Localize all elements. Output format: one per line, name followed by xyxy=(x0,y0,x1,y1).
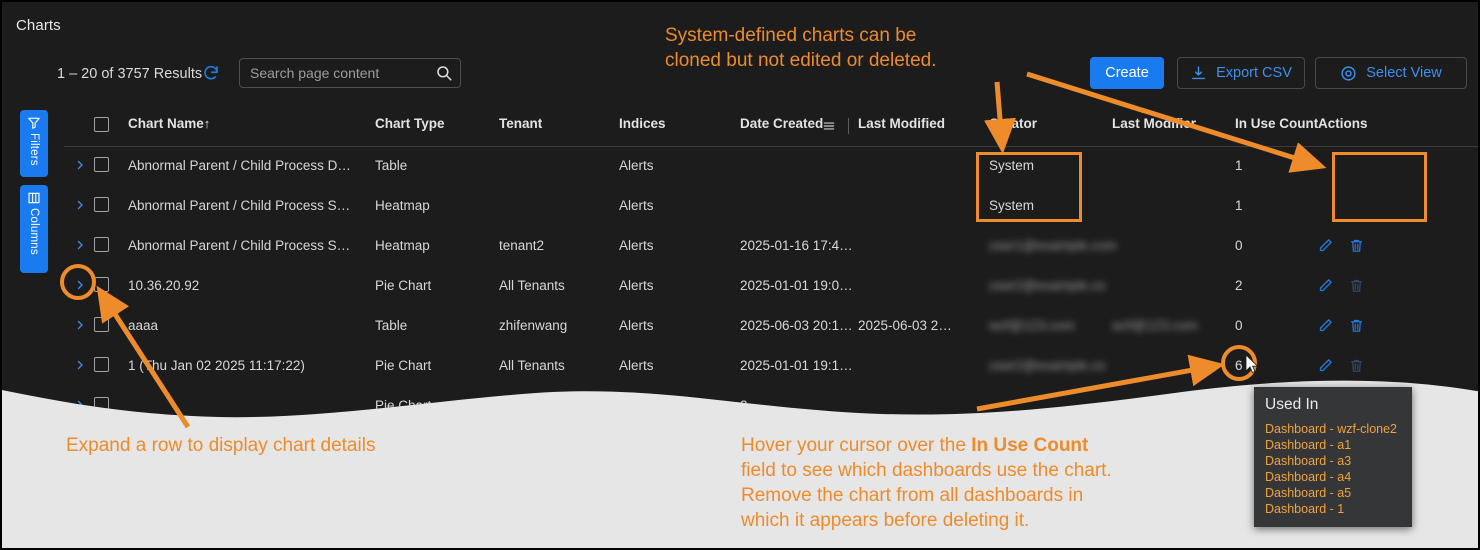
row-select-checkbox[interactable] xyxy=(94,317,109,332)
cell-in-use-count: 0 xyxy=(1235,398,1243,413)
cell-date-created: 2025-01-01 19:0… xyxy=(740,278,853,293)
cell-last-modifier: wzf@123.com xyxy=(1112,318,1198,333)
tooltip-item: Dashboard - a4 xyxy=(1265,469,1401,485)
header-divider xyxy=(848,118,849,134)
sidebar-tab-columns-label: Columns xyxy=(28,208,40,255)
cell-last-modified: 2025-06-03 2… xyxy=(858,318,952,333)
select-view-label: Select View xyxy=(1366,65,1442,81)
cell-indices: Alerts xyxy=(619,318,654,333)
cell-tenant: zhifenwang xyxy=(499,318,567,333)
cell-indices: Alerts xyxy=(619,198,654,213)
cell-chart-type: Pie Chart xyxy=(375,358,431,373)
annotation-hover-note-rest: field to see which dashboards use the ch… xyxy=(741,460,1112,531)
column-header-actions[interactable]: Actions xyxy=(1318,116,1368,131)
table-header-row: Chart Name↑ Chart Type Tenant Indices Da… xyxy=(64,107,1480,147)
table-row[interactable]: Abnormal Parent / Child Process S…Heatma… xyxy=(64,227,1480,267)
annotation-hover-note-bold: In Use Count xyxy=(971,435,1088,456)
row-actions[interactable] xyxy=(1318,238,1364,253)
row-expand-chevron[interactable] xyxy=(74,199,86,211)
tooltip-item: Dashboard - a1 xyxy=(1265,437,1401,453)
cell-tenant: tenant2 xyxy=(499,238,544,253)
cell-in-use-count: 1 xyxy=(1235,198,1243,213)
search-box[interactable] xyxy=(239,58,461,88)
cell-tenant: All Tenants xyxy=(499,398,565,413)
search-icon[interactable] xyxy=(435,64,453,82)
table-row[interactable]: 1 (Thu Jan 02 2025 11:17:22)Pie ChartAll… xyxy=(64,347,1480,387)
cell-in-use-count: 0 xyxy=(1235,238,1243,253)
row-select-checkbox[interactable] xyxy=(94,157,109,172)
row-select-checkbox[interactable] xyxy=(94,357,109,372)
cell-chart-type: Pie Chart xyxy=(375,278,431,293)
search-input[interactable] xyxy=(250,59,425,87)
cell-creator: System xyxy=(989,198,1034,213)
table-body: Abnormal Parent / Child Process D…TableA… xyxy=(64,147,1480,427)
row-expand-chevron[interactable] xyxy=(74,159,86,171)
funnel-icon xyxy=(27,116,41,130)
delete-icon[interactable] xyxy=(1349,238,1364,253)
screenshot-root: Charts 1 – 20 of 3757 Results Create Exp… xyxy=(0,0,1480,550)
tooltip-item: Dashboard - a3 xyxy=(1265,453,1401,469)
used-in-tooltip: Used In Dashboard - wzf-clone2Dashboard … xyxy=(1254,387,1412,527)
cell-date-created: 2025-06-03 20:1… xyxy=(740,318,853,333)
row-expand-chevron[interactable] xyxy=(74,239,86,251)
table-row[interactable]: Abnormal Parent / Child Process S…Heatma… xyxy=(64,187,1480,227)
cell-chart-type: Pie Chart xyxy=(375,398,431,413)
row-expand-chevron[interactable] xyxy=(74,279,86,291)
row-select-checkbox[interactable] xyxy=(94,397,109,412)
select-view-button[interactable]: Select View xyxy=(1315,57,1467,89)
annotation-expand-note: Expand a row to display chart details xyxy=(66,433,375,458)
cell-chart-type: Heatmap xyxy=(375,238,430,253)
export-csv-label: Export CSV xyxy=(1216,65,1292,81)
cell-indices: Alerts xyxy=(619,278,654,293)
row-select-checkbox[interactable] xyxy=(94,197,109,212)
annotation-hover-note-part1: Hover your cursor over the xyxy=(741,435,971,456)
page-title: Charts xyxy=(16,17,61,34)
edit-icon[interactable] xyxy=(1318,238,1333,253)
table-row[interactable]: 10.36.20.92Pie ChartAll TenantsAlerts202… xyxy=(64,267,1480,307)
cell-chart-name: Abnormal Parent / Child Process D… xyxy=(128,158,351,173)
row-actions[interactable] xyxy=(1318,318,1364,333)
row-select-checkbox[interactable] xyxy=(94,237,109,252)
columns-icon xyxy=(27,191,41,205)
row-expand-chevron[interactable] xyxy=(74,319,86,331)
cell-indices: Alerts xyxy=(619,398,654,413)
cell-date-created: 2025-01-16 17:4… xyxy=(740,238,853,253)
tooltip-item: Dashboard - wzf-clone2 xyxy=(1265,421,1401,437)
edit-icon[interactable] xyxy=(1318,278,1333,293)
column-header-creator[interactable]: Creator xyxy=(989,116,1037,131)
column-header-in-use-count[interactable]: In Use Count xyxy=(1235,116,1318,131)
delete-icon[interactable] xyxy=(1349,358,1364,373)
results-count: 1 – 20 of 3757 Results xyxy=(57,66,202,82)
cell-chart-name: Abnormal Parent / Child Process S… xyxy=(128,238,350,253)
sort-ascending-icon: ↑ xyxy=(204,116,211,131)
cell-in-use-count: 0 xyxy=(1235,318,1243,333)
table-row[interactable]: Abnormal Parent / Child Process D…TableA… xyxy=(64,147,1480,187)
cell-tenant: All Tenants xyxy=(499,358,565,373)
delete-icon[interactable] xyxy=(1349,278,1364,293)
cell-chart-name: Abnormal Parent / Child Process S… xyxy=(128,198,350,213)
cell-chart-type: Table xyxy=(375,318,407,333)
column-header-date-created[interactable]: Date Created xyxy=(740,116,823,131)
eye-icon xyxy=(1340,65,1357,82)
mouse-cursor-icon xyxy=(1245,354,1259,374)
row-expand-chevron[interactable] xyxy=(74,399,86,411)
cell-creator: user2@example.co xyxy=(989,358,1106,373)
cell-date-created: 2025-01-01 19:1… xyxy=(740,358,853,373)
charts-table: Chart Name↑ Chart Type Tenant Indices Da… xyxy=(64,107,1480,427)
cell-date-created: 2… xyxy=(740,398,761,413)
cell-indices: Alerts xyxy=(619,158,654,173)
column-header-last-modified[interactable]: Last Modified xyxy=(858,116,945,131)
sidebar-tab-columns[interactable]: Columns xyxy=(20,185,48,273)
row-expand-chevron[interactable] xyxy=(74,359,86,371)
delete-icon[interactable] xyxy=(1349,318,1364,333)
refresh-icon[interactable] xyxy=(202,64,220,82)
edit-icon[interactable] xyxy=(1318,318,1333,333)
column-header-chart-name-label: Chart Name xyxy=(128,116,204,131)
select-all-checkbox[interactable] xyxy=(94,117,109,132)
cell-creator: user2@example.co xyxy=(989,278,1106,293)
tooltip-item: Dashboard - 1 xyxy=(1265,501,1401,517)
row-actions[interactable] xyxy=(1318,358,1364,373)
annotation-hover-note: Hover your cursor over the In Use Countf… xyxy=(741,433,1211,533)
column-header-chart-type[interactable]: Chart Type xyxy=(375,116,445,131)
cell-creator: System xyxy=(989,158,1034,173)
cell-indices: Alerts xyxy=(619,358,654,373)
cell-tenant: All Tenants xyxy=(499,278,565,293)
cell-chart-name: 10.36.20.92 xyxy=(128,278,199,293)
row-select-checkbox[interactable] xyxy=(94,277,109,292)
sidebar-tab-filters[interactable]: Filters xyxy=(20,110,48,177)
cell-chart-type: Table xyxy=(375,158,407,173)
cell-in-use-count: 1 xyxy=(1235,158,1243,173)
cell-creator: user1@example.com xyxy=(989,238,1117,253)
column-header-indices[interactable]: Indices xyxy=(619,116,666,131)
cell-in-use-count: 6 xyxy=(1235,358,1243,373)
column-header-chart-name[interactable]: Chart Name↑ xyxy=(128,116,210,131)
export-csv-button[interactable]: Export CSV xyxy=(1177,57,1305,89)
tooltip-item-list: Dashboard - wzf-clone2Dashboard - a1Dash… xyxy=(1265,421,1401,517)
cell-creator: wzf@123.com xyxy=(989,318,1075,333)
column-header-last-modifier[interactable]: Last Modifier xyxy=(1112,116,1196,131)
cell-chart-type: Heatmap xyxy=(375,198,430,213)
sidebar-tab-filters-label: Filters xyxy=(28,133,40,166)
table-row[interactable]: aaaaTablezhifenwangAlerts2025-06-03 20:1… xyxy=(64,307,1480,347)
cell-chart-name: aaaa xyxy=(128,318,158,333)
hamburger-menu-icon[interactable] xyxy=(822,119,836,133)
tooltip-title: Used In xyxy=(1265,396,1401,414)
row-actions[interactable] xyxy=(1318,278,1364,293)
tooltip-item: Dashboard - a5 xyxy=(1265,485,1401,501)
cell-chart-name: 1 (Thu Jan 02 2025 11:17:22) xyxy=(128,358,305,373)
create-button[interactable]: Create xyxy=(1090,57,1164,89)
cell-indices: Alerts xyxy=(619,238,654,253)
cell-in-use-count: 2 xyxy=(1235,278,1243,293)
download-icon xyxy=(1190,65,1207,82)
edit-icon[interactable] xyxy=(1318,358,1333,373)
column-header-tenant[interactable]: Tenant xyxy=(499,116,542,131)
